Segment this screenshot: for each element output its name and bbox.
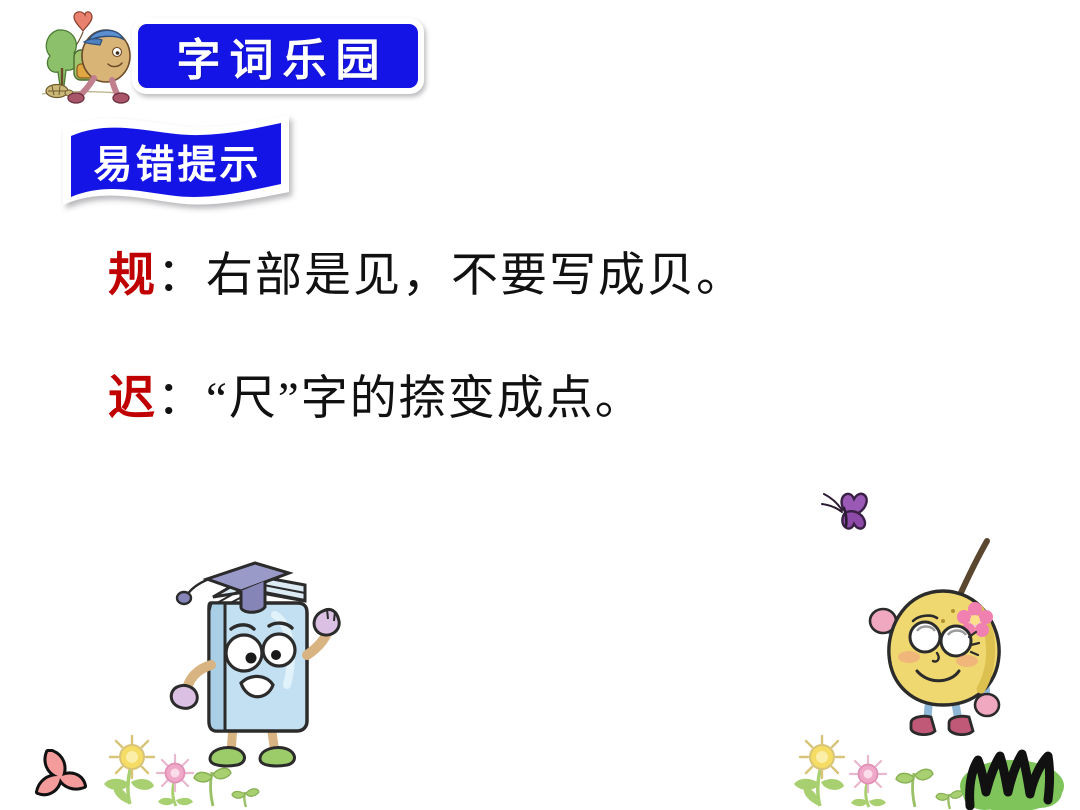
tips-list: 规：右部是见，不要写成贝。 迟：“尺”字的捺变成点。: [108, 250, 1008, 425]
slide-canvas: 字词乐园 易错提示 规：右部是见，不要写成贝。 迟：“尺”字的捺变成点。: [0, 0, 1080, 810]
yellow-sunflower-icon: [794, 736, 844, 806]
cartoon-book-character: [155, 545, 360, 770]
tip-separator: ：: [157, 373, 206, 425]
cartoon-lemon-character: [855, 525, 1030, 755]
page-title: 字词乐园: [132, 18, 424, 94]
tip-target-character: 规: [108, 250, 157, 302]
tip-explanation: 右部是见，不要写成贝。: [206, 250, 745, 302]
tip-target-character: 迟: [108, 373, 157, 425]
green-bush-with-grass-icon: [960, 754, 1064, 810]
hiker-potato-icon: [22, 8, 140, 112]
section-title: 易错提示: [60, 134, 292, 190]
pink-small-flower-icon: [850, 756, 886, 807]
tip-separator: ：: [157, 250, 206, 302]
green-sprout-icon: [896, 769, 933, 807]
green-sprout-small-icon: [232, 789, 259, 807]
pink-blossom-icon: [38, 752, 84, 793]
section-ribbon-banner: 易错提示: [60, 112, 292, 212]
tip-line: 规：右部是见，不要写成贝。: [108, 250, 1008, 303]
green-sprout-icon: [194, 768, 231, 806]
tip-line: 迟：“尺”字的捺变成点。: [108, 373, 1008, 426]
tip-explanation: “尺”字的捺变成点。: [206, 373, 644, 425]
yellow-sunflower-icon: [104, 736, 154, 804]
green-sprout-small-icon: [936, 791, 963, 809]
title-banner: 字词乐园: [132, 18, 424, 94]
